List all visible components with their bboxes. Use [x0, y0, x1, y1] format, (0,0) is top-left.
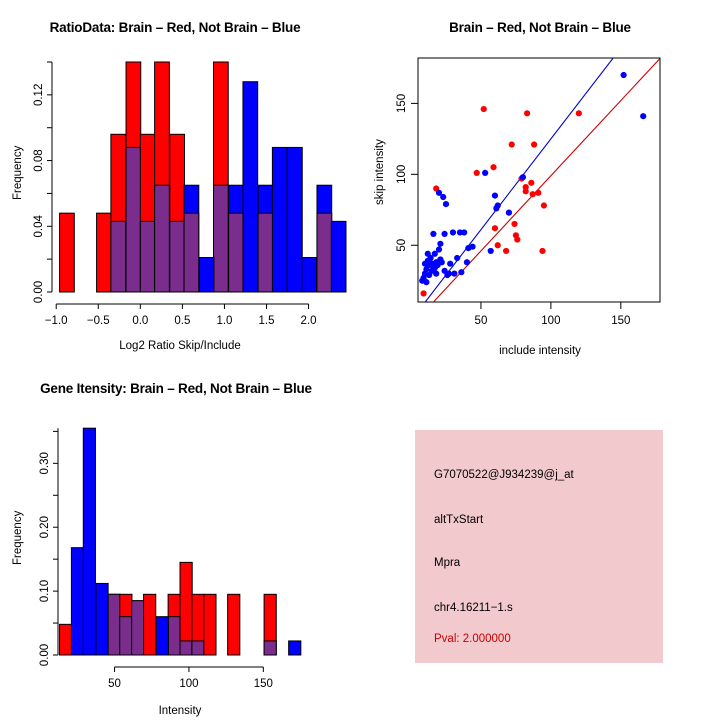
- ratio-histogram-plot: 0.000.040.080.12−1.0−0.50.00.51.01.52.0: [0, 0, 360, 360]
- histogram-bar: [83, 428, 95, 655]
- histogram-bar: [288, 147, 303, 292]
- locus-text: chr4.16211−1.s: [434, 602, 513, 614]
- y-tick-label: 0.04: [33, 214, 45, 237]
- histogram-bar: [96, 583, 108, 655]
- scatter-point: [621, 72, 627, 78]
- x-tick-label: 0.0: [132, 315, 148, 327]
- scatter-point: [535, 190, 541, 196]
- fit-line-red: [418, 58, 660, 318]
- gene-x-axis: [115, 667, 264, 672]
- scatter-plot: 5010015050100150: [360, 0, 720, 360]
- histogram-bar-overlap: [264, 641, 276, 655]
- y-tick-label: 150: [396, 94, 408, 113]
- ratio-y-axis: [47, 62, 52, 292]
- x-tick-label: 100: [541, 315, 560, 327]
- probe-id-text: G7070522@J934239@j_at: [434, 469, 574, 481]
- scatter-point: [441, 231, 447, 237]
- histogram-bar-overlap: [229, 213, 244, 292]
- y-tick-label: 0.08: [33, 149, 45, 171]
- histogram-bar: [331, 221, 346, 292]
- scatter-point: [447, 261, 453, 267]
- scatter-point: [443, 201, 449, 207]
- x-tick-label: 50: [475, 315, 488, 327]
- scatter-point: [509, 141, 515, 147]
- gene-symbol-text: Mpra: [434, 557, 460, 569]
- scatter-x-axis: [481, 302, 621, 309]
- histogram-bar: [289, 641, 301, 655]
- histogram-bar-overlap: [108, 594, 120, 655]
- y-tick-label: 0.00: [39, 644, 51, 666]
- x-tick-label: 100: [179, 678, 198, 690]
- scatter-point: [541, 202, 547, 208]
- x-tick-label: −1.0: [45, 315, 68, 327]
- histogram-bar: [302, 258, 317, 293]
- scatter-point: [458, 269, 464, 275]
- scatter-point: [520, 174, 526, 180]
- scatter-point: [433, 271, 439, 277]
- scatter-point: [492, 225, 498, 231]
- histogram-bar: [60, 213, 75, 292]
- scatter-point: [430, 231, 436, 237]
- figure-canvas: RatioData: Brain – Red, Not Brain – Blue…: [0, 0, 720, 720]
- histogram-bar: [228, 594, 240, 655]
- histogram-bar: [272, 147, 287, 292]
- scatter-point: [446, 271, 452, 277]
- x-tick-label: 2.0: [301, 315, 317, 327]
- histogram-bar-overlap: [170, 221, 185, 292]
- scatter-point: [488, 248, 494, 254]
- histogram-bar: [97, 213, 112, 292]
- ratio-bars: [60, 62, 346, 292]
- scatter-point: [495, 202, 501, 208]
- gene-y-axis: [53, 428, 58, 655]
- histogram-bar-overlap: [126, 147, 141, 292]
- scatter-point: [474, 170, 480, 176]
- pval-text: Pval: 2.000000: [434, 633, 511, 645]
- scatter-point: [490, 164, 496, 170]
- histogram-bar-overlap: [132, 601, 144, 655]
- x-tick-label: 0.5: [174, 315, 190, 327]
- x-tick-label: 150: [254, 678, 273, 690]
- scatter-point: [420, 290, 426, 296]
- y-tick-label: 0.12: [33, 84, 45, 106]
- scatter-point: [576, 110, 582, 116]
- panel-ratio-histogram: RatioData: Brain – Red, Not Brain – Blue…: [0, 0, 360, 360]
- y-tick-label: 50: [396, 239, 408, 252]
- histogram-bar-overlap: [155, 185, 170, 292]
- scatter-point: [481, 106, 487, 112]
- x-tick-label: 1.0: [216, 315, 232, 327]
- scatter-point: [539, 248, 545, 254]
- panel-gene-histogram: Gene Itensity: Brain – Red, Not Brain – …: [0, 360, 360, 720]
- scatter-point: [640, 113, 646, 119]
- scatter-point: [461, 229, 467, 235]
- panel-probe-info: G7070522@J934239@j_at altTxStart Mpra ch…: [415, 430, 663, 663]
- scatter-point: [528, 180, 534, 186]
- y-tick-label: 0.00: [33, 281, 45, 303]
- scatter-y-axis: [411, 103, 418, 245]
- scatter-point: [503, 248, 509, 254]
- y-tick-label: 100: [396, 165, 408, 184]
- histogram-bar: [59, 624, 71, 655]
- histogram-bar-overlap: [140, 221, 155, 292]
- histogram-bar-overlap: [214, 185, 229, 292]
- histogram-bar-overlap: [317, 213, 332, 292]
- event-type-text: altTxStart: [434, 514, 483, 526]
- histogram-bar-overlap: [258, 213, 273, 292]
- scatter-point: [506, 210, 512, 216]
- panel-intensity-scatter: Brain – Red, Not Brain – Blue include in…: [360, 0, 720, 360]
- histogram-bar: [71, 548, 83, 655]
- histogram-bar-overlap: [180, 641, 192, 655]
- histogram-bar: [204, 594, 216, 655]
- histogram-bar-overlap: [111, 221, 126, 292]
- scatter-point: [514, 236, 520, 242]
- y-tick-label: 0.20: [39, 516, 51, 538]
- ratio-x-axis: [56, 304, 308, 309]
- histogram-bar: [156, 617, 168, 655]
- scatter-point: [523, 184, 529, 190]
- y-tick-label: 0.10: [39, 580, 51, 602]
- scatter-point: [440, 194, 446, 200]
- histogram-bar-overlap: [184, 213, 199, 292]
- scatter-point: [524, 110, 530, 116]
- scatter-point: [436, 246, 442, 252]
- scatter-point: [511, 221, 517, 227]
- histogram-bar: [243, 82, 258, 292]
- x-tick-label: −0.5: [87, 315, 110, 327]
- scatter-point: [469, 244, 475, 250]
- scatter-point: [482, 170, 488, 176]
- scatter-plot-frame: [418, 58, 660, 302]
- histogram-bar-overlap: [120, 617, 132, 655]
- histogram-bar-overlap: [192, 641, 204, 655]
- scatter-point: [437, 241, 443, 247]
- scatter-point: [450, 229, 456, 235]
- scatter-point: [439, 259, 445, 265]
- x-tick-label: 150: [611, 315, 630, 327]
- scatter-point: [423, 279, 429, 285]
- histogram-bar: [144, 594, 156, 655]
- gene-bars: [59, 428, 300, 655]
- scatter-point: [531, 141, 537, 147]
- scatter-point: [454, 255, 460, 261]
- scatter-point: [530, 191, 536, 197]
- y-tick-label: 0.30: [39, 452, 51, 474]
- x-tick-label: 1.5: [259, 315, 275, 327]
- gene-histogram-plot: 0.000.100.200.3050100150: [0, 360, 360, 720]
- scatter-point: [464, 259, 470, 265]
- fit-line-blue: [418, 0, 660, 311]
- scatter-point: [495, 242, 501, 248]
- scatter-point: [451, 271, 457, 277]
- histogram-bar-overlap: [168, 617, 180, 655]
- scatter-points: [419, 72, 646, 297]
- scatter-point: [492, 193, 498, 199]
- x-tick-label: 50: [108, 678, 121, 690]
- histogram-bar: [199, 258, 214, 293]
